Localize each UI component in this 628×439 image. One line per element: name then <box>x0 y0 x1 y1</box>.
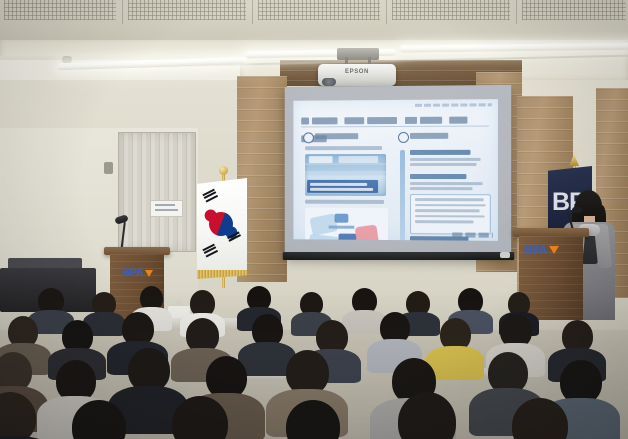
slide-site-map <box>305 208 388 241</box>
seminar-hall-photo: EPSON <box>0 0 628 439</box>
wall-loudspeaker <box>104 162 113 174</box>
slide-badge-1 <box>303 132 314 143</box>
slide-timeline-item <box>410 174 489 190</box>
slide-left-heading <box>315 133 358 139</box>
bpa-logo-text: BPA <box>122 267 143 279</box>
bpa-triangle-icon <box>145 270 153 277</box>
projection-screen-bottom-bar <box>283 252 514 260</box>
bpa-logo-podium-right: BPA <box>524 244 560 255</box>
slide-title-rule <box>301 126 489 128</box>
ceiling-tile <box>392 0 510 20</box>
slide-left-subtext <box>305 146 382 150</box>
projected-slide <box>293 99 498 241</box>
slide-badge-2 <box>398 132 409 143</box>
slide-left-subtext-2 <box>305 200 384 204</box>
slide-photo-caption <box>307 180 378 193</box>
slide-top-rule <box>415 103 492 107</box>
bpa-logo-text: BPA <box>524 243 547 257</box>
slide-right-heading <box>410 133 448 139</box>
slide-footer-logo <box>452 232 493 237</box>
projector-lens-icon <box>322 78 336 86</box>
ceiling-tile <box>258 0 380 20</box>
projection-screen-pull-knob[interactable] <box>500 252 510 258</box>
slide-timeline-item <box>410 150 489 166</box>
slide-callout-box <box>410 194 491 235</box>
bpa-triangle-icon <box>549 246 559 254</box>
slide-title <box>301 111 490 122</box>
door[interactable] <box>118 132 196 252</box>
bpa-logo-podium-left: BPA <box>122 268 154 278</box>
projector-brand-label: EPSON <box>318 69 396 75</box>
slide-timeline-arrow <box>400 150 405 241</box>
ceiling-tile <box>522 0 626 20</box>
podium-microphone-icon <box>572 207 582 213</box>
ceiling-tile <box>128 0 246 20</box>
ceiling-tile <box>4 0 116 20</box>
flag-finial-icon <box>219 166 228 175</box>
projector-mount-arm <box>337 48 379 60</box>
door-sign <box>150 200 183 217</box>
